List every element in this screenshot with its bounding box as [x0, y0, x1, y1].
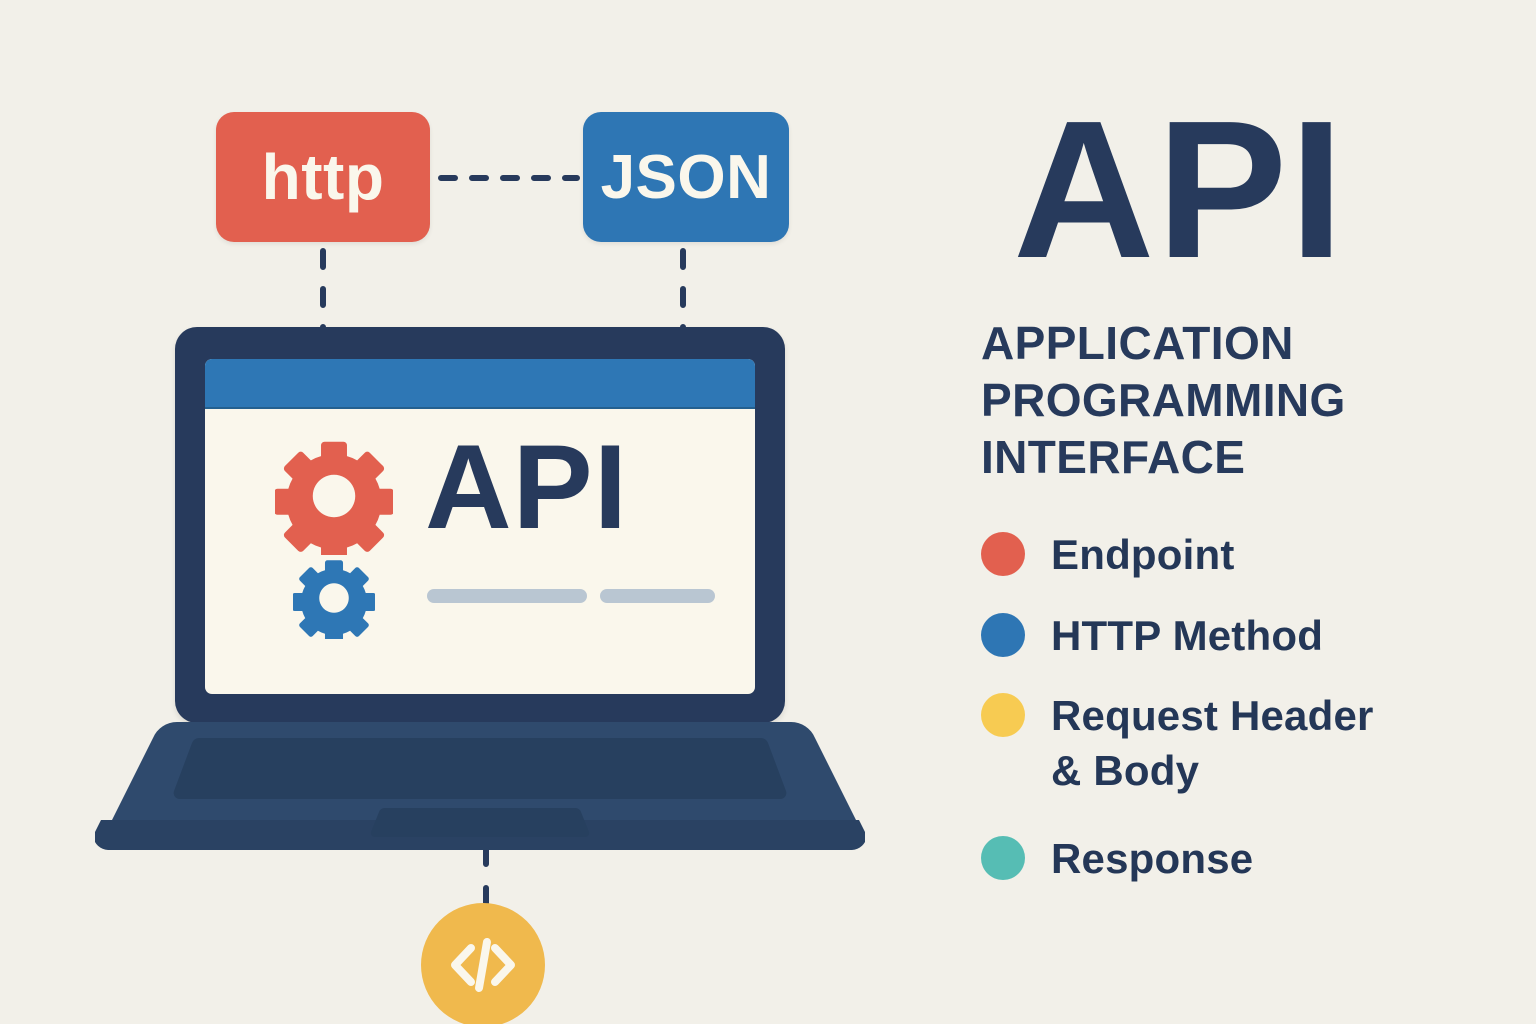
- laptop-screen: API: [205, 359, 755, 694]
- screen-heading: API: [425, 427, 628, 547]
- legend-label-request-header-body: Request Header & Body: [1051, 689, 1374, 798]
- connector-json-laptop: [680, 248, 686, 332]
- legend-label-endpoint: Endpoint: [1051, 528, 1235, 583]
- legend-dot-request-header-body: [981, 693, 1025, 737]
- infographic-canvas: http JSON API: [0, 0, 1536, 1024]
- connector-laptop-code: [483, 845, 489, 907]
- subtitle-line-3: INTERFACE: [981, 429, 1411, 486]
- gear-icon-small: [293, 557, 375, 639]
- badge-json[interactable]: JSON: [583, 112, 789, 242]
- connector-http-json: [438, 175, 580, 181]
- legend-item-endpoint[interactable]: Endpoint: [981, 528, 1431, 583]
- code-icon: [446, 928, 520, 1002]
- placeholder-bar: [600, 589, 715, 603]
- legend-item-response[interactable]: Response: [981, 832, 1431, 887]
- legend-item-http-method[interactable]: HTTP Method: [981, 609, 1431, 664]
- laptop-lid: API: [175, 327, 785, 723]
- legend-list: Endpoint HTTP Method Request Header & Bo…: [981, 528, 1431, 913]
- subtitle-line-1: APPLICATION: [981, 315, 1411, 372]
- legend-label-http-method: HTTP Method: [1051, 609, 1323, 664]
- gear-icon-large: [275, 437, 393, 555]
- placeholder-bar: [427, 589, 587, 603]
- browser-content: API: [205, 409, 755, 694]
- browser-titlebar: [205, 359, 755, 409]
- subtitle-line-2: PROGRAMMING: [981, 372, 1411, 429]
- page-subtitle: APPLICATION PROGRAMMING INTERFACE: [981, 315, 1411, 486]
- badge-http-label: http: [262, 140, 385, 214]
- laptop-base: [95, 720, 865, 852]
- legend-dot-http-method: [981, 613, 1025, 657]
- badge-json-label: JSON: [601, 142, 772, 213]
- legend-dot-response: [981, 836, 1025, 880]
- code-badge[interactable]: [421, 903, 545, 1024]
- legend-dot-endpoint: [981, 532, 1025, 576]
- legend-label-response: Response: [1051, 832, 1253, 887]
- connector-http-laptop: [320, 248, 326, 332]
- badge-http[interactable]: http: [216, 112, 430, 242]
- legend-item-request-header-body[interactable]: Request Header & Body: [981, 689, 1431, 798]
- page-title: API: [1013, 92, 1346, 288]
